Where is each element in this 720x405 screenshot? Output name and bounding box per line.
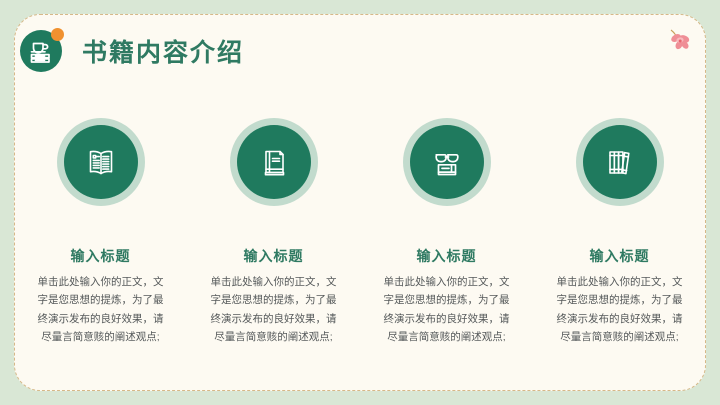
column-title: 输入标题 <box>417 246 477 266</box>
feature-column: 输入标题 单击此处输入你的正文，文字是您思想的提炼，为了最终演示发布的良好效果，… <box>360 118 533 347</box>
slide: 书籍内容介绍 <box>0 0 720 405</box>
icon-ring[interactable] <box>403 118 491 206</box>
column-title: 输入标题 <box>71 246 131 266</box>
feature-column: 输入标题 单击此处输入你的正文，文字是您思想的提炼，为了最终演示发布的良好效果，… <box>533 118 706 347</box>
orange-dot-icon <box>51 28 64 41</box>
column-body: 单击此处输入你的正文，文字是您思想的提炼，为了最终演示发布的良好效果，请尽量言简… <box>381 273 513 347</box>
feature-column: 输入标题 单击此处输入你的正文，文字是您思想的提炼，为了最终演示发布的良好效果，… <box>14 118 187 347</box>
column-body: 单击此处输入你的正文，文字是您思想的提炼，为了最终演示发布的良好效果，请尽量言简… <box>35 273 167 347</box>
column-body: 单击此处输入你的正文，文字是您思想的提炼，为了最终演示发布的良好效果，请尽量言简… <box>208 273 340 347</box>
column-title: 输入标题 <box>590 246 650 266</box>
icon-ring[interactable] <box>576 118 664 206</box>
open-book-icon <box>81 142 121 182</box>
icon-disc <box>583 125 657 199</box>
column-body: 单击此处输入你的正文，文字是您思想的提炼，为了最终演示发布的良好效果，请尽量言简… <box>554 273 686 347</box>
icon-disc <box>64 125 138 199</box>
slide-header: 书籍内容介绍 <box>20 28 244 74</box>
feature-column: 输入标题 单击此处输入你的正文，文字是您思想的提炼，为了最终演示发布的良好效果，… <box>187 118 360 347</box>
bookshelf-books-icon <box>600 142 640 182</box>
icon-ring[interactable] <box>230 118 318 206</box>
icon-disc <box>237 125 311 199</box>
feature-columns: 输入标题 单击此处输入你的正文，文字是您思想的提炼，为了最终演示发布的良好效果，… <box>14 118 706 347</box>
closed-book-icon <box>254 142 294 182</box>
icon-ring[interactable] <box>57 118 145 206</box>
icon-disc <box>410 125 484 199</box>
column-title: 输入标题 <box>244 246 304 266</box>
page-title: 书籍内容介绍 <box>82 33 244 69</box>
glasses-on-book-icon <box>427 142 467 182</box>
logo <box>20 28 66 74</box>
